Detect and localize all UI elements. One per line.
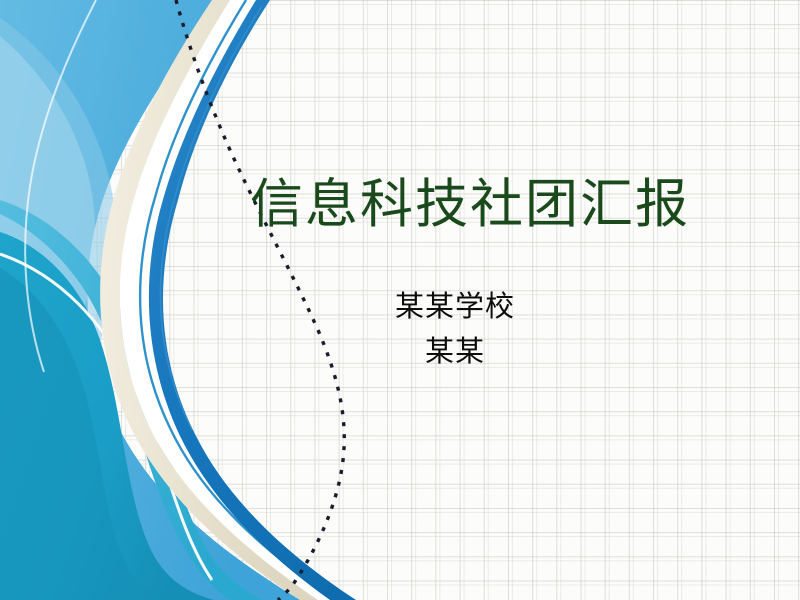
subtitle-block: 某某学校 某某 bbox=[290, 285, 620, 375]
presentation-slide: 信息科技社团汇报 某某学校 某某 bbox=[0, 0, 800, 600]
subtitle-line-author: 某某 bbox=[290, 330, 620, 375]
subtitle-line-school: 某某学校 bbox=[290, 285, 620, 330]
slide-text-layer: 信息科技社团汇报 某某学校 某某 bbox=[0, 0, 800, 600]
page-title: 信息科技社团汇报 bbox=[250, 176, 720, 235]
